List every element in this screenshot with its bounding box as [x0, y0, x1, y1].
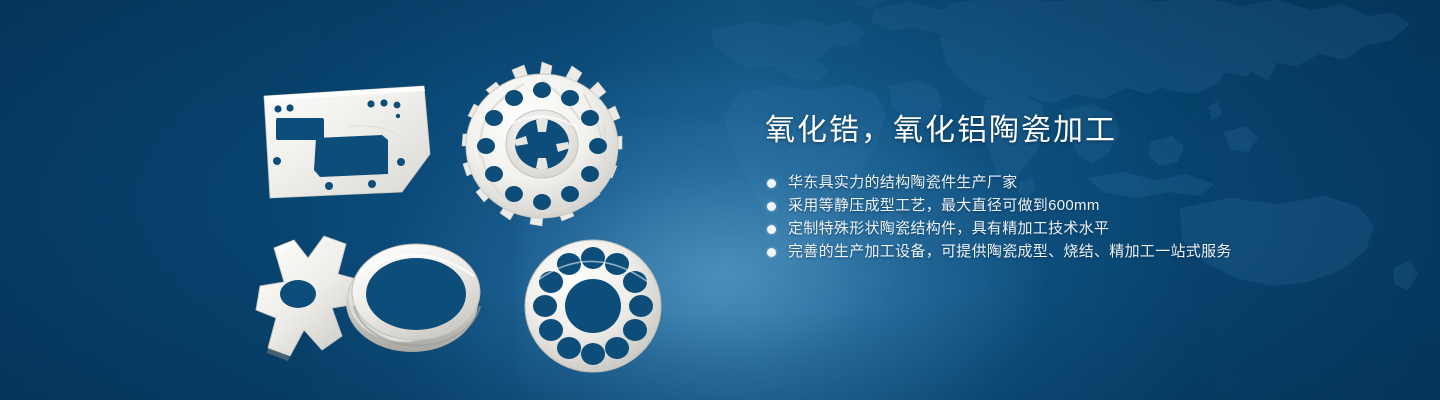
- ceramic-perforated-disc: [518, 230, 668, 380]
- page-title: 氧化锆，氧化铝陶瓷加工: [765, 112, 1385, 150]
- ceramic-impeller-disc: [452, 54, 632, 234]
- feature-text: 华东具实力的结构陶瓷件生产厂家: [788, 172, 1018, 194]
- bullet-dot-icon: [767, 225, 776, 234]
- bullet-dot-icon: [767, 248, 776, 257]
- product-photo-collage: [230, 40, 700, 385]
- ceramic-ring: [338, 228, 498, 368]
- list-item: 采用等静压成型工艺，最大直径可做到600mm: [767, 195, 1385, 217]
- list-item: 华东具实力的结构陶瓷件生产厂家: [767, 172, 1385, 194]
- bullet-dot-icon: [767, 202, 776, 211]
- ceramic-machined-plate: [258, 82, 438, 202]
- feature-text: 采用等静压成型工艺，最大直径可做到600mm: [788, 195, 1100, 217]
- feature-text: 完善的生产加工设备，可提供陶瓷成型、烧结、精加工一站式服务: [788, 241, 1232, 263]
- banner-text-block: 氧化锆，氧化铝陶瓷加工 华东具实力的结构陶瓷件生产厂家 采用等静压成型工艺，最大…: [765, 112, 1385, 263]
- list-item: 完善的生产加工设备，可提供陶瓷成型、烧结、精加工一站式服务: [767, 241, 1385, 263]
- feature-list: 华东具实力的结构陶瓷件生产厂家 采用等静压成型工艺，最大直径可做到600mm 定…: [767, 172, 1385, 263]
- bullet-dot-icon: [767, 179, 776, 188]
- feature-text: 定制特殊形状陶瓷结构件，具有精加工技术水平: [788, 218, 1109, 240]
- list-item: 定制特殊形状陶瓷结构件，具有精加工技术水平: [767, 218, 1385, 240]
- hero-banner: 氧化锆，氧化铝陶瓷加工 华东具实力的结构陶瓷件生产厂家 采用等静压成型工艺，最大…: [0, 0, 1440, 400]
